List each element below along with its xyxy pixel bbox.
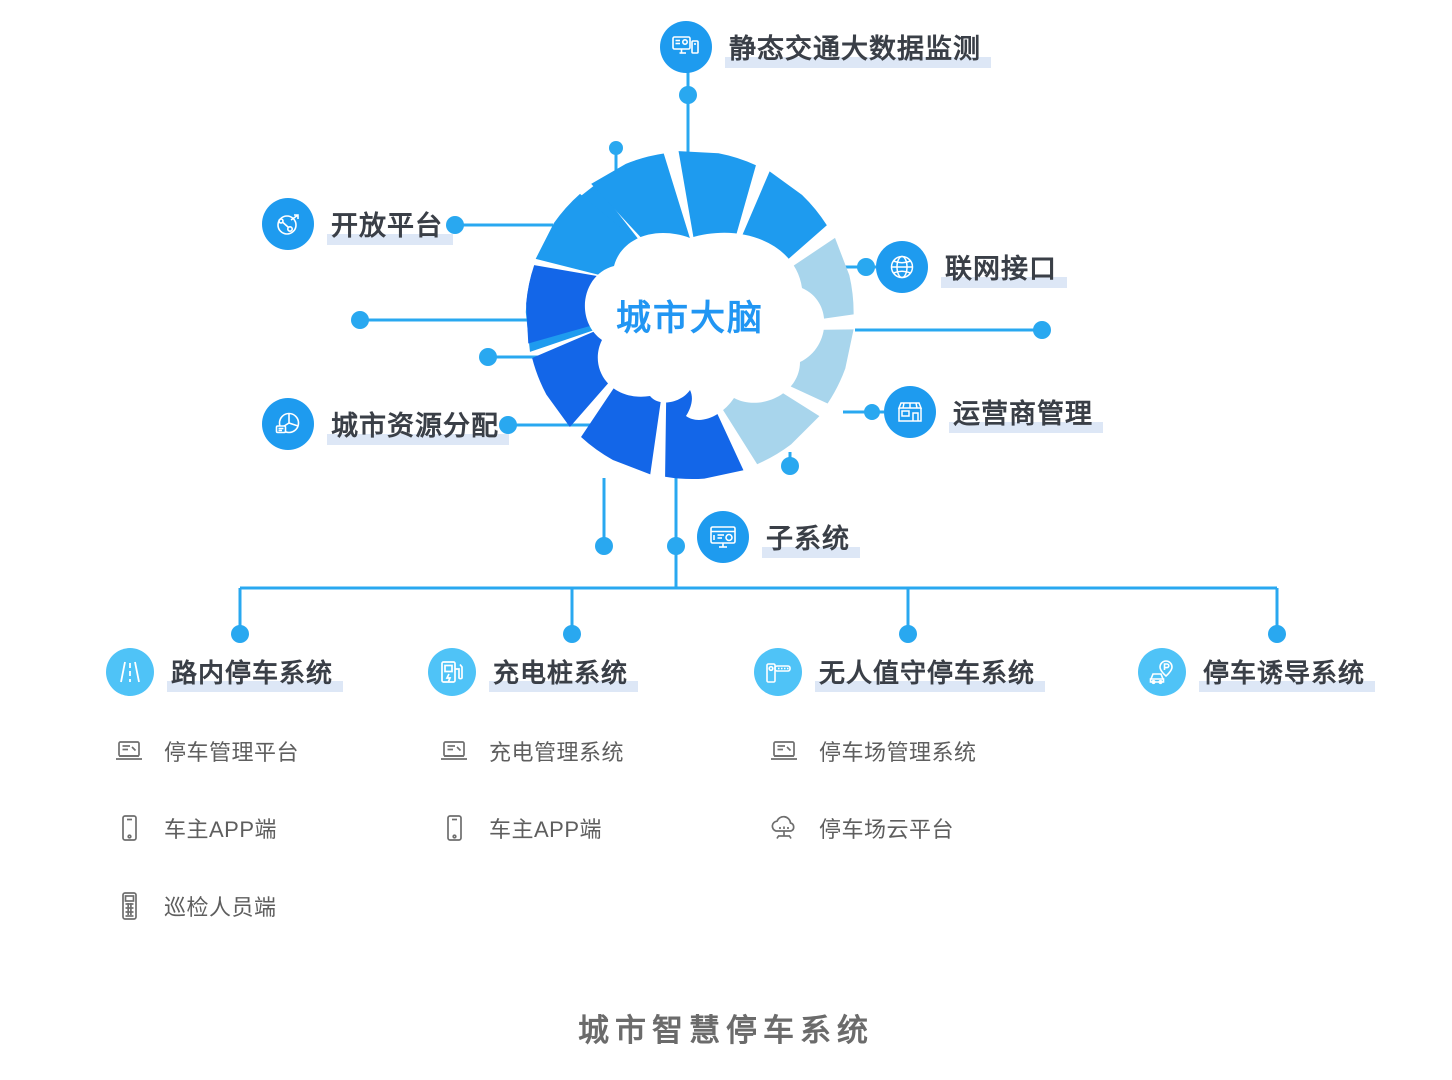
city-brain-donut: 城市大脑 xyxy=(500,140,880,490)
node-open-platform[interactable]: 开放平台 xyxy=(262,198,447,250)
storefront-icon xyxy=(884,386,936,438)
barrier-gate-icon xyxy=(754,648,802,696)
list-item[interactable]: 停车场云平台 xyxy=(767,811,954,845)
laptop-icon xyxy=(112,734,146,768)
laptop-icon xyxy=(767,734,801,768)
subsystem-charging-pile[interactable]: 充电桩系统 xyxy=(428,648,632,696)
node-label: 子系统 xyxy=(762,517,854,558)
cloud-icon xyxy=(767,811,801,845)
list-item[interactable]: 巡检人员端 xyxy=(112,889,277,923)
node-subsystem[interactable]: 子系统 xyxy=(697,511,854,563)
monitor-desktop-icon xyxy=(660,21,712,73)
subsystem-label: 充电桩系统 xyxy=(489,653,632,692)
network-globe-icon xyxy=(262,198,314,250)
list-item[interactable]: 停车场管理系统 xyxy=(767,734,977,768)
node-operator-management[interactable]: 运营商管理 xyxy=(884,386,1097,438)
subsystem-label: 停车诱导系统 xyxy=(1199,653,1369,692)
list-item[interactable]: 充电管理系统 xyxy=(437,734,624,768)
list-item[interactable]: 车主APP端 xyxy=(437,811,602,845)
charging-station-icon xyxy=(428,648,476,696)
node-label: 城市资源分配 xyxy=(327,404,503,445)
list-item-label: 巡检人员端 xyxy=(164,890,277,922)
node-label: 联网接口 xyxy=(941,247,1061,288)
subsystem-on-street-parking[interactable]: 路内停车系统 xyxy=(106,648,337,696)
car-parking-pin-icon xyxy=(1138,648,1186,696)
node-static-traffic-bigdata[interactable]: 静态交通大数据监测 xyxy=(660,21,985,73)
list-item-label: 停车场云平台 xyxy=(819,812,954,844)
globe-icon xyxy=(876,241,928,293)
node-label: 运营商管理 xyxy=(949,392,1097,433)
list-item[interactable]: 停车管理平台 xyxy=(112,734,299,768)
road-icon xyxy=(106,648,154,696)
smartphone-icon xyxy=(437,811,471,845)
node-label: 开放平台 xyxy=(327,204,447,245)
center-label: 城市大脑 xyxy=(500,140,880,490)
monitor-dashboard-icon xyxy=(697,511,749,563)
pie-chart-icon xyxy=(262,398,314,450)
laptop-icon xyxy=(437,734,471,768)
list-item-label: 充电管理系统 xyxy=(489,735,624,767)
subsystem-unattended-parking[interactable]: 无人值守停车系统 xyxy=(754,648,1039,696)
node-network-interface[interactable]: 联网接口 xyxy=(876,241,1061,293)
smartphone-icon xyxy=(112,811,146,845)
list-item-label: 停车管理平台 xyxy=(164,735,299,767)
list-item[interactable]: 车主APP端 xyxy=(112,811,277,845)
node-city-resource-alloc[interactable]: 城市资源分配 xyxy=(262,398,503,450)
subsystem-parking-guidance[interactable]: 停车诱导系统 xyxy=(1138,648,1369,696)
diagram-canvas: 城市大脑 静态交通大数据监测 开放平台 xyxy=(0,0,1452,1080)
node-label: 静态交通大数据监测 xyxy=(725,27,985,68)
list-item-label: 车主APP端 xyxy=(164,812,277,844)
list-item-label: 停车场管理系统 xyxy=(819,735,977,767)
handheld-terminal-icon xyxy=(112,889,146,923)
subsystem-label: 路内停车系统 xyxy=(167,653,337,692)
page-title: 城市智慧停车系统 xyxy=(0,1005,1452,1050)
list-item-label: 车主APP端 xyxy=(489,812,602,844)
subsystem-label: 无人值守停车系统 xyxy=(815,653,1039,692)
